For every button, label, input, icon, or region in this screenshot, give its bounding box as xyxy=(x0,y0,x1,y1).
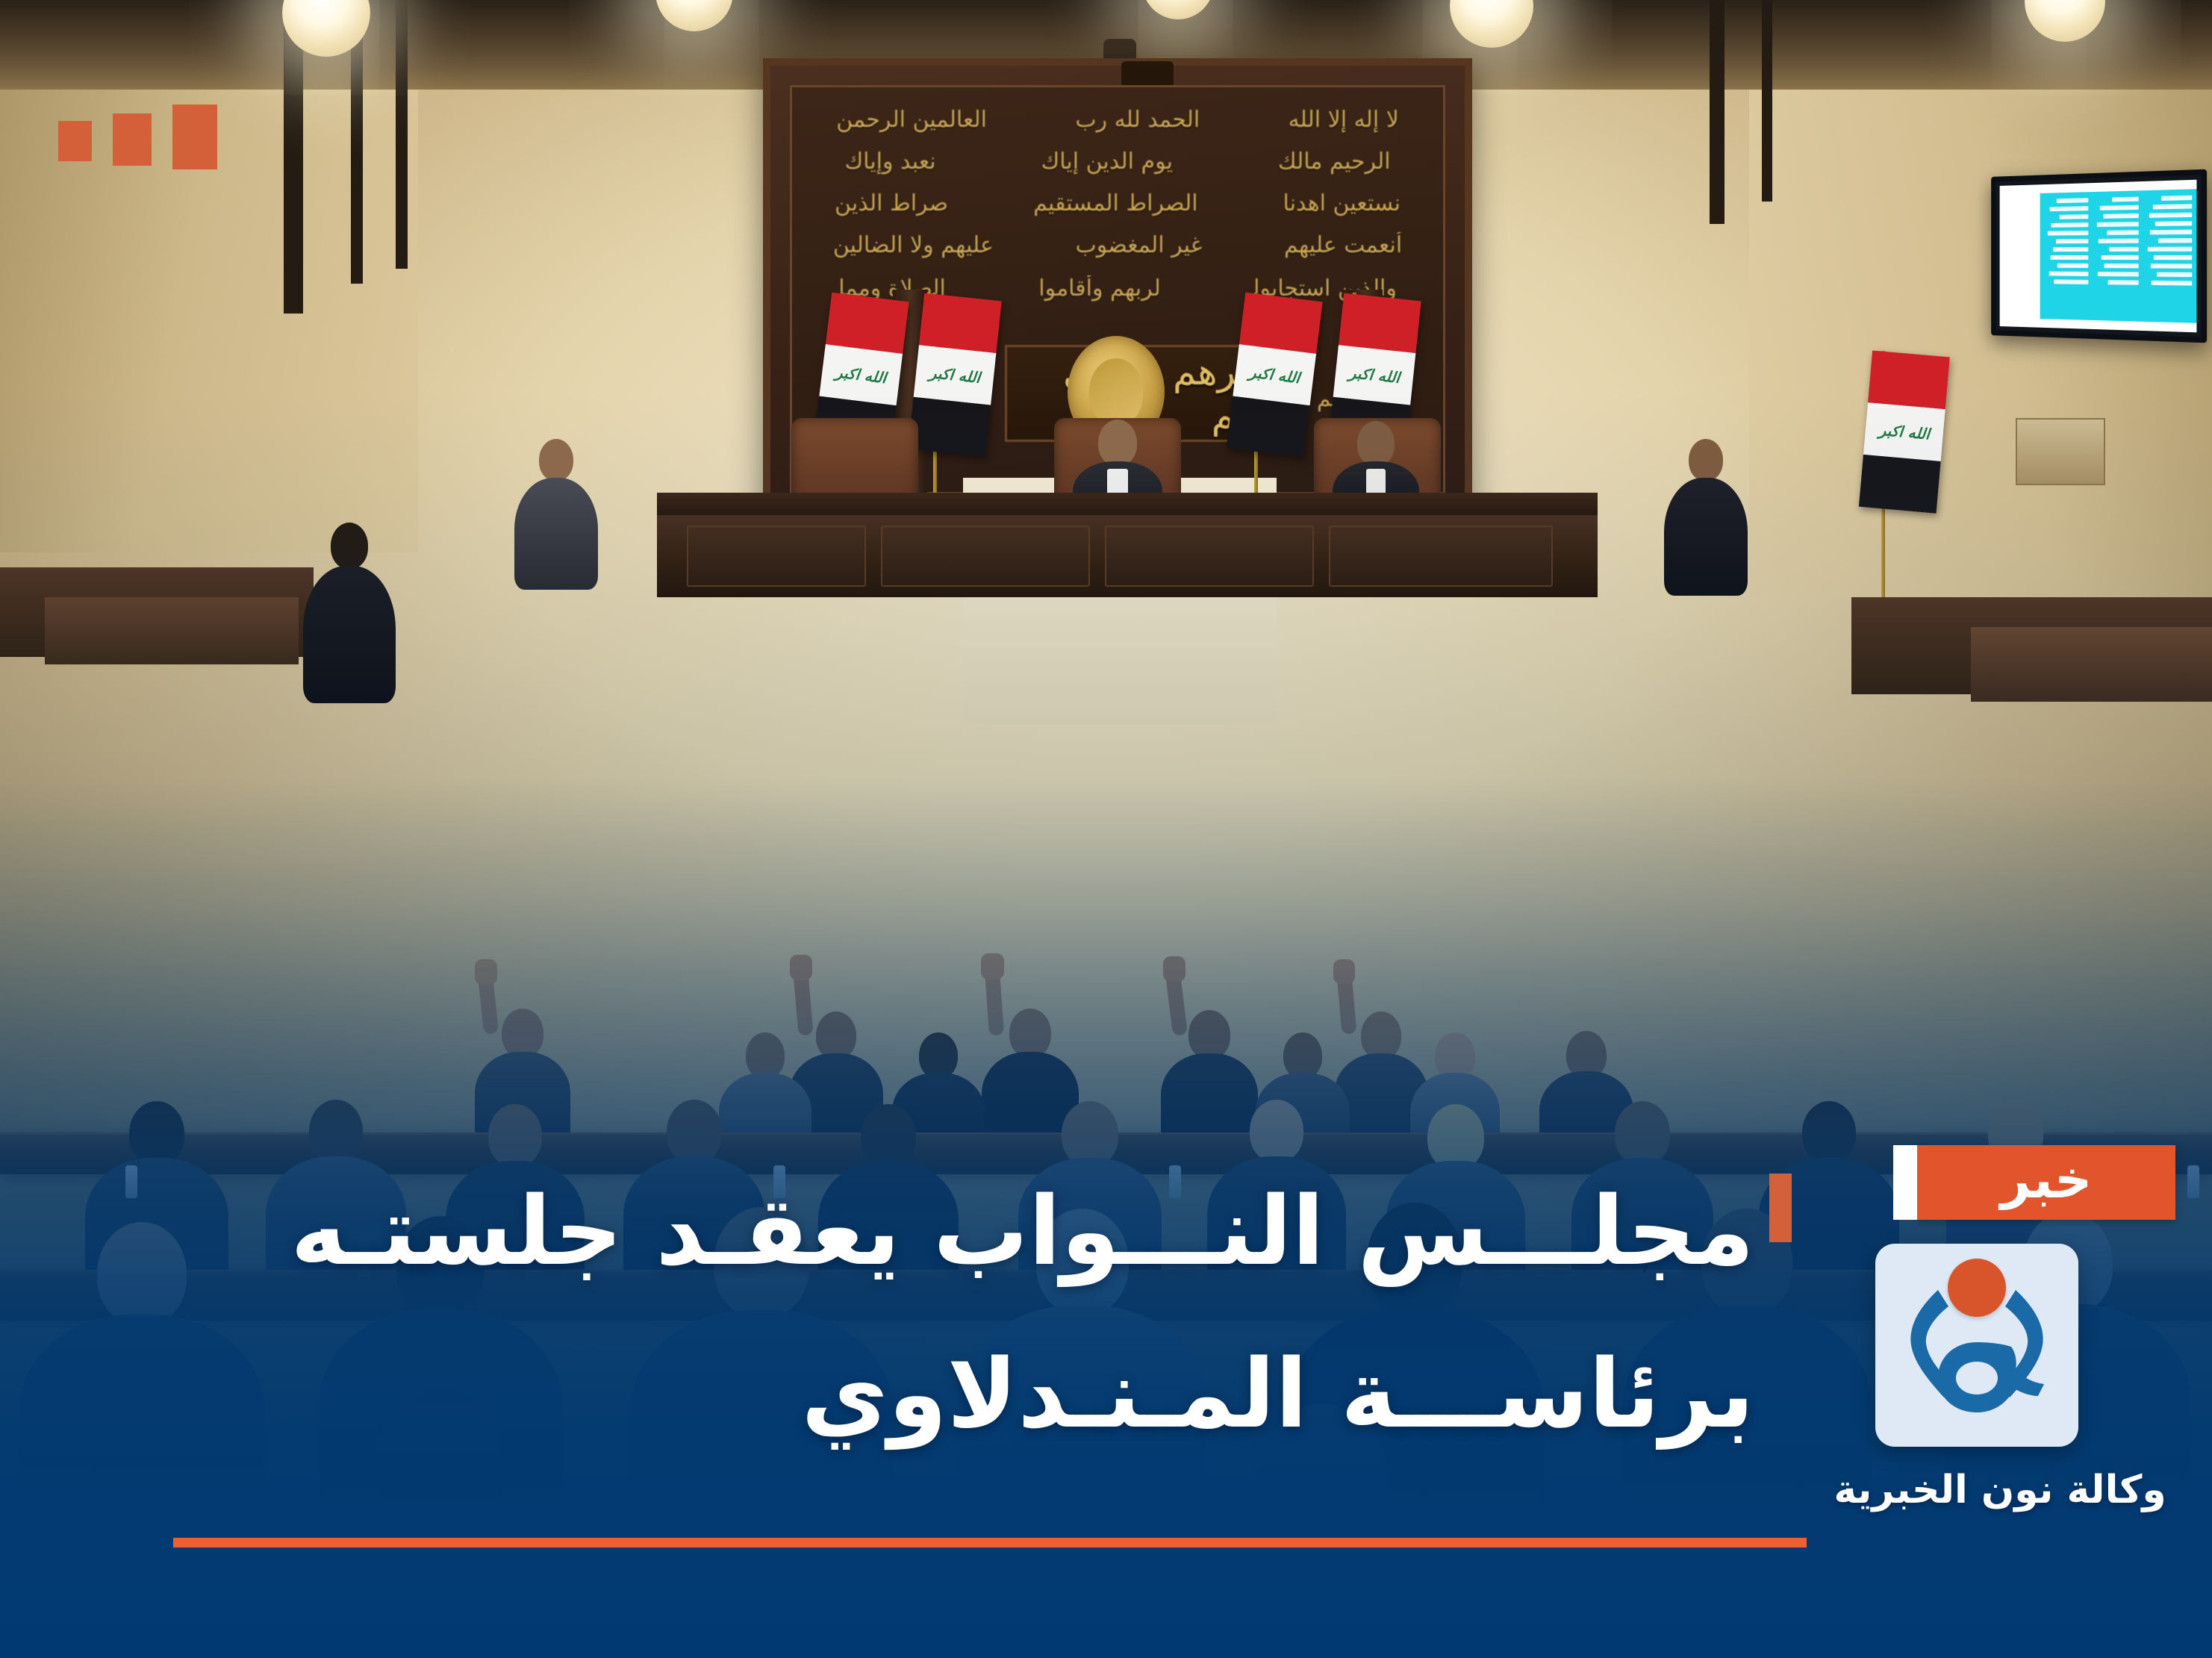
headline-line-1: مجلـــس النـــواب يعقـد جلستـه xyxy=(142,1150,1754,1312)
wall-strip xyxy=(1710,0,1725,224)
orange-rule xyxy=(173,1538,1807,1548)
headline: مجلـــس النـــواب يعقـد جلستـه برئاســـة… xyxy=(142,1150,1754,1476)
agency-name: وكالة نون الخبرية xyxy=(1825,1468,2175,1512)
noon-agency-logo xyxy=(1875,1244,2078,1447)
wall-strip xyxy=(396,0,408,269)
logo-mark-icon xyxy=(1875,1244,2078,1447)
headline-accent-bar xyxy=(1769,1174,1792,1242)
news-badge-body: خبر xyxy=(1917,1145,2175,1220)
news-card: ﻻ ﺇﻟﻪ ﺇﻻ ﺍﻟﻠﻪﺍﻟﺤﻤﺪ ﻟﻠﻪ ﺭﺏﺍﻟﻌﺎﻟﻤﻴﻦ ﺍﻟﺮﺣﻤﻦ… xyxy=(0,0,2212,1658)
three-bar-mark-icon xyxy=(58,105,217,169)
news-badge: خبر xyxy=(1893,1145,2175,1220)
brand-panel: خبر وكالة نون الخبرية xyxy=(1825,1145,2175,1220)
news-badge-label: خبر xyxy=(2001,1153,2093,1206)
wall-strip xyxy=(1762,0,1772,202)
headline-line-2: برئاســـة المـنـدلاوي xyxy=(142,1312,1754,1475)
attendance-display-screen xyxy=(1991,169,2207,343)
news-badge-edge xyxy=(1893,1145,1917,1220)
